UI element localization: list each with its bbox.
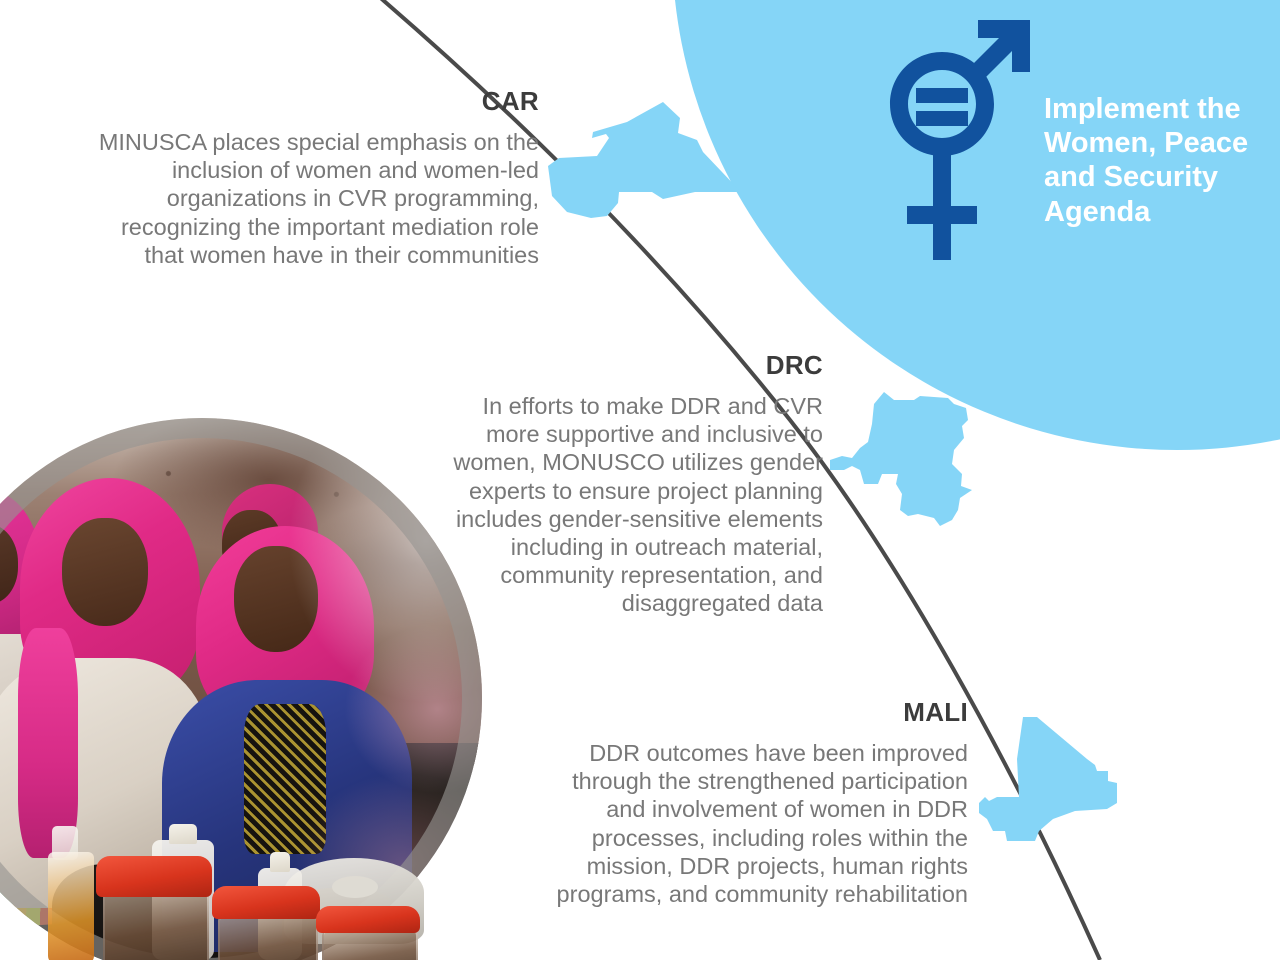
block-label-mali: MALI: [556, 699, 968, 725]
photo-person-2-scarf-drape: [18, 628, 78, 858]
photo-person-2-face: [62, 518, 148, 626]
photo-jar-red-lid-2: [212, 886, 320, 960]
headline-title: Implement the Women, Peace and Security …: [1044, 92, 1276, 229]
photo-jar-lid-3: [316, 906, 420, 933]
photo-person-3-vest: [244, 704, 326, 854]
democratic-republic-of-congo-map-icon: [828, 390, 980, 536]
text-block-mali: MALI DDR outcomes have been improved thr…: [556, 699, 968, 908]
text-block-car: CAR MINUSCA places special emphasis on t…: [92, 88, 539, 269]
photo-tub-knob: [332, 876, 378, 898]
photo-bottle-cap-2: [270, 852, 289, 872]
block-label-car: CAR: [92, 88, 539, 114]
photo-glass-bottle: [48, 852, 94, 960]
photo-jar-lid-1: [96, 856, 212, 897]
block-body-drc: In efforts to make DDR and CVR more supp…: [450, 392, 823, 618]
text-block-drc: DRC In efforts to make DDR and CVR more …: [450, 352, 823, 618]
block-body-car: MINUSCA places special emphasis on the i…: [92, 128, 539, 269]
photo-bottle-cap-1: [169, 824, 196, 844]
mali-map-icon: [975, 715, 1120, 843]
central-african-republic-map-icon: [545, 100, 745, 220]
gender-equality-icon: [880, 16, 1035, 266]
block-body-mali: DDR outcomes have been improved through …: [556, 739, 968, 908]
photo-jar-body-1: [103, 892, 209, 960]
block-label-drc: DRC: [450, 352, 823, 378]
photo-jar-red-lid-3: [316, 906, 420, 960]
photo-jar-body-2: [218, 915, 317, 960]
photo-jar-body-3: [322, 930, 418, 960]
photo-person-3-face: [234, 546, 318, 652]
photo-jar-red-lid-1: [96, 856, 212, 960]
infographic-slide: Implement the Women, Peace and Security …: [0, 0, 1280, 960]
photo-jar-lid-2: [212, 886, 320, 919]
